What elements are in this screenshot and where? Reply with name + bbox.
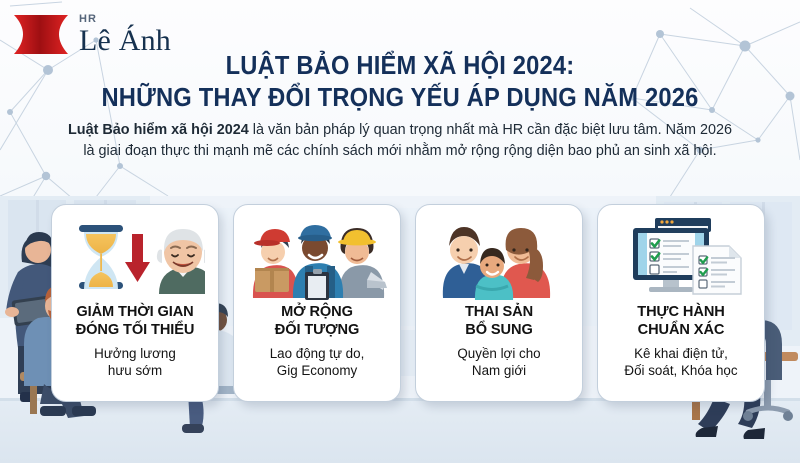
hourglass-down-arrow-elderly-icon bbox=[65, 214, 205, 300]
card-sub-line-2: Đối soát, Khóa học bbox=[624, 362, 737, 379]
card-mo-rong-doi-tuong[interactable]: MỞ RỘNG ĐỐI TƯỢNG Lao động tự do, Gig Ec… bbox=[233, 204, 401, 402]
card-title-line-2: BỔ SUNG bbox=[465, 322, 533, 340]
card-subtitle: Hưởng lương hưu sớm bbox=[94, 345, 176, 379]
feature-cards: GIẢM THỜI GIAN ĐÓNG TỐI THIỂU Hưởng lươn… bbox=[0, 204, 800, 414]
card-title-line-1: THAI SẢN bbox=[465, 304, 533, 322]
card-sub-line-2: Nam giới bbox=[457, 362, 540, 379]
header: HR Lê Ánh LUẬT BẢO HIỂM XÃ HỘI 2024: NHỮ… bbox=[0, 0, 800, 196]
card-sub-line-1: Hưởng lương bbox=[94, 345, 176, 362]
title-line-2: NHỮNG THAY ĐỔI TRỌNG YẾU ÁP DỤNG NĂM 202… bbox=[28, 82, 772, 114]
card-title: MỞ RỘNG ĐỐI TƯỢNG bbox=[275, 304, 359, 339]
card-title-line-2: ĐÓNG TỐI THIỂU bbox=[76, 322, 195, 340]
card-sub-line-2: Gig Economy bbox=[270, 362, 365, 379]
monitor-checklist-document-icon bbox=[611, 214, 751, 300]
card-title: THỰC HÀNH CHUẨN XÁC bbox=[637, 304, 724, 339]
card-title-line-1: THỰC HÀNH bbox=[637, 304, 724, 322]
card-title: THAI SẢN BỔ SUNG bbox=[465, 304, 533, 339]
card-title-line-1: MỞ RỘNG bbox=[275, 304, 359, 322]
card-title-line-1: GIẢM THỜI GIAN bbox=[76, 304, 195, 322]
family-parents-child-icon bbox=[429, 214, 569, 300]
card-title: GIẢM THỜI GIAN ĐÓNG TỐI THIỂU bbox=[76, 304, 195, 339]
card-subtitle: Kê khai điện tử, Đối soát, Khóa học bbox=[624, 345, 737, 379]
card-giam-thoi-gian-dong[interactable]: GIẢM THỜI GIAN ĐÓNG TỐI THIỂU Hưởng lươn… bbox=[51, 204, 219, 402]
card-subtitle: Quyền lợi cho Nam giới bbox=[457, 345, 540, 379]
card-title-line-2: CHUẨN XÁC bbox=[637, 322, 724, 340]
subtitle-bold-lead: Luật Bảo hiểm xã hội 2024 bbox=[68, 122, 249, 138]
card-title-line-2: ĐỐI TƯỢNG bbox=[275, 322, 359, 340]
card-subtitle: Lao động tự do, Gig Economy bbox=[270, 345, 365, 379]
infographic-canvas: HR Lê Ánh LUẬT BẢO HIỂM XÃ HỘI 2024: NHỮ… bbox=[0, 0, 800, 463]
three-gig-workers-icon bbox=[247, 214, 387, 300]
page-title: LUẬT BẢO HIỂM XÃ HỘI 2024: NHỮNG THAY ĐỔ… bbox=[0, 50, 800, 114]
card-thai-san-bo-sung[interactable]: THAI SẢN BỔ SUNG Quyền lợi cho Nam giới bbox=[415, 204, 583, 402]
subtitle-paragraph: Luật Bảo hiểm xã hội 2024 là văn bản phá… bbox=[62, 120, 738, 163]
brand-hr-label: HR bbox=[79, 14, 171, 25]
card-sub-line-1: Lao động tự do, bbox=[270, 345, 365, 362]
card-sub-line-1: Kê khai điện tử, bbox=[624, 345, 737, 362]
card-sub-line-1: Quyền lợi cho bbox=[457, 345, 540, 362]
card-thuc-hanh-chuan-xac[interactable]: THỰC HÀNH CHUẨN XÁC Kê khai điện tử, Đối… bbox=[597, 204, 765, 402]
card-sub-line-2: hưu sớm bbox=[94, 362, 176, 379]
title-line-1: LUẬT BẢO HIỂM XÃ HỘI 2024: bbox=[28, 50, 772, 82]
